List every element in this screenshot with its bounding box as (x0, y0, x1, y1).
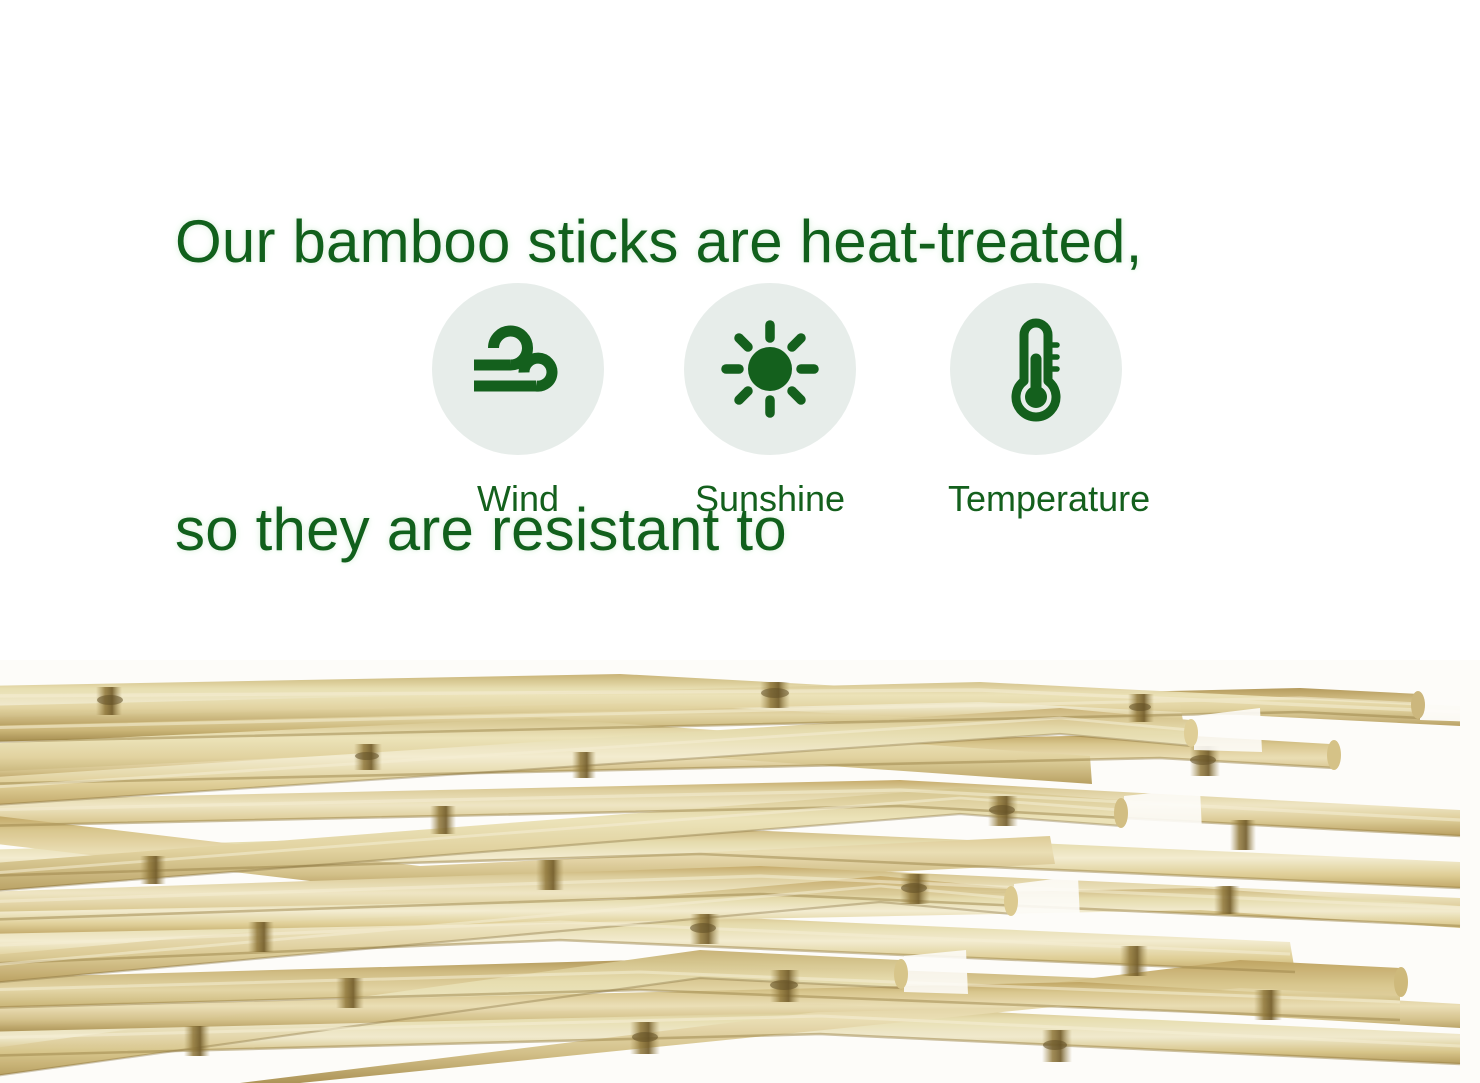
feature-label-sunshine: Sunshine (682, 478, 858, 520)
sun-icon (718, 317, 822, 421)
headline-line-1: Our bamboo sticks are heat-treated, (175, 194, 1375, 290)
feature-label-temperature: Temperature (948, 478, 1124, 520)
feature-item-temperature: Temperature (948, 283, 1124, 520)
product-photo-bamboo-sticks (0, 660, 1480, 1083)
feature-item-sunshine: Sunshine (682, 283, 858, 520)
feature-list: Wind (430, 283, 1120, 533)
thermometer-icon (984, 311, 1088, 427)
icon-badge-sunshine (684, 283, 856, 455)
icon-badge-wind (432, 283, 604, 455)
wind-icon (466, 317, 570, 421)
feature-item-wind: Wind (430, 283, 606, 520)
marketing-infographic: Our bamboo sticks are heat-treated, so t… (0, 0, 1480, 1083)
feature-label-wind: Wind (430, 478, 606, 520)
icon-badge-temperature (950, 283, 1122, 455)
